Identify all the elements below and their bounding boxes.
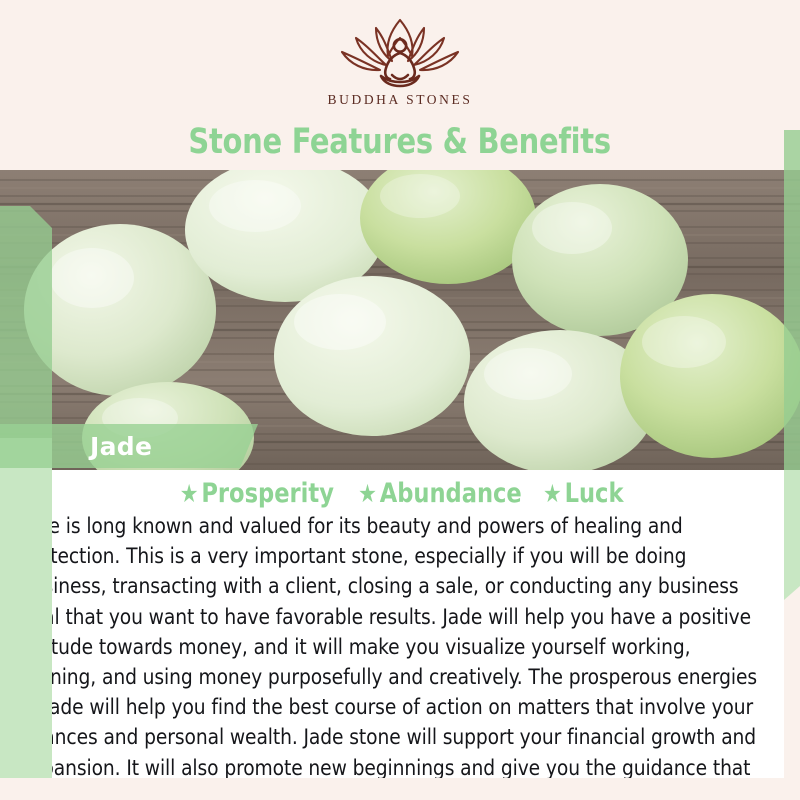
content-inner: ★Prosperity★Abundance★Luck Jade is long … — [16, 470, 784, 780]
benefit-label-prosperity: Prosperity — [201, 478, 334, 509]
stone-name-label: Jade — [90, 432, 152, 461]
stone-description: Jade is long known and valued for its be… — [20, 512, 763, 800]
star-icon: ★ — [180, 479, 199, 508]
benefit-item-abundance: ★Abundance — [358, 478, 522, 509]
lotus-meditation-figure-icon — [336, 14, 464, 88]
benefit-label-luck: Luck — [564, 478, 623, 509]
page-title: Stone Features & Benefits — [189, 122, 611, 162]
bottom-strip — [0, 778, 800, 800]
stone-name-tag: Jade — [0, 424, 258, 468]
star-icon: ★ — [543, 479, 562, 508]
infographic-card: BUDDHA STONES Stone Features & Benefits — [0, 0, 800, 800]
title-banner: Stone Features & Benefits — [0, 118, 800, 166]
brand-logo: BUDDHA STONES — [0, 14, 800, 108]
benefit-item-luck: ★Luck — [543, 478, 623, 509]
card-header: BUDDHA STONES Stone Features & Benefits — [0, 0, 800, 170]
benefit-label-abundance: Abundance — [379, 478, 521, 509]
brand-wordmark: BUDDHA STONES — [328, 92, 473, 108]
benefit-item-prosperity: ★Prosperity — [180, 478, 334, 509]
content-panel: ★Prosperity★Abundance★Luck Jade is long … — [0, 470, 800, 800]
benefits-list: ★Prosperity★Abundance★Luck — [16, 478, 784, 509]
star-icon: ★ — [358, 479, 377, 508]
